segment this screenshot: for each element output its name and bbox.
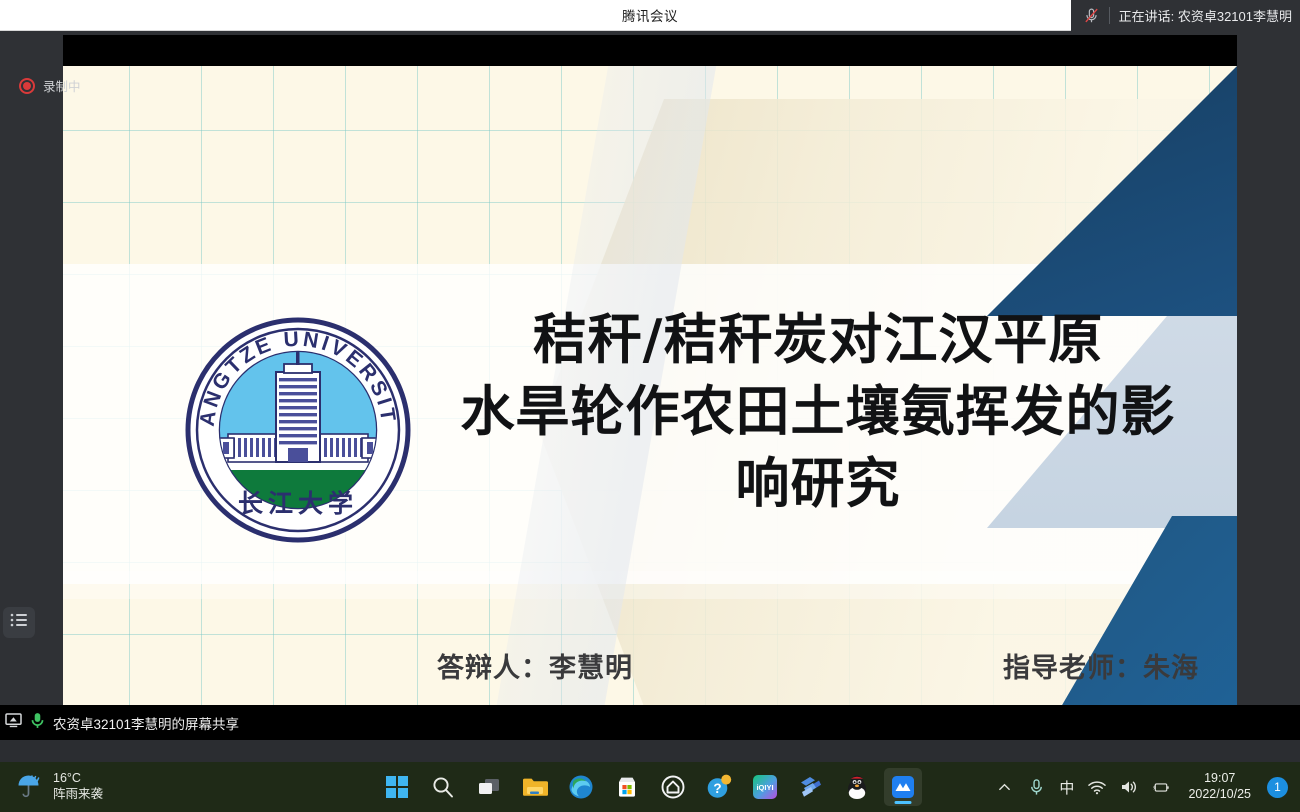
wifi-icon[interactable]	[1088, 778, 1106, 796]
slide-title-line: 秸秆/秸秆炭对江汉平原	[423, 304, 1213, 376]
help-button[interactable]: ?	[700, 768, 738, 806]
clock[interactable]: 19:07 2022/10/25	[1188, 771, 1251, 802]
presentation-slide: YANGTZE UNIVERSITY 长江大学 秸秆/秸秆炭对江汉平原 水旱轮作…	[63, 66, 1237, 726]
recording-label: 录制中	[43, 76, 81, 95]
shared-screen-stage[interactable]: YANGTZE UNIVERSITY 长江大学 秸秆/秸秆炭对江汉平原 水旱轮作…	[63, 35, 1237, 740]
weather-widget[interactable]: 16°C 阵雨来袭	[0, 770, 215, 805]
svg-text:iQIYI: iQIYI	[756, 783, 773, 792]
ime-indicator[interactable]: 中	[1059, 777, 1074, 798]
slide-advisor-name: 指导老师：朱海	[989, 646, 1213, 685]
notification-badge[interactable]: 1	[1267, 777, 1288, 798]
start-button[interactable]	[378, 768, 416, 806]
screen-share-icon	[5, 713, 22, 733]
panel-toggle-button[interactable]	[3, 607, 35, 638]
slide-title-line: 水旱轮作农田土壤氨挥发的影	[423, 376, 1213, 448]
search-button[interactable]	[424, 768, 462, 806]
slide-title: 秸秆/秸秆炭对江汉平原 水旱轮作农田土壤氨挥发的影 响研究	[423, 304, 1213, 519]
slide-presenters: 答辩人：李慧明 指导老师：朱海	[423, 646, 1213, 685]
file-explorer-button[interactable]	[516, 768, 554, 806]
clock-time: 19:07	[1188, 771, 1251, 787]
yangtze-university-logo: YANGTZE UNIVERSITY 长江大学	[184, 316, 412, 544]
screen-share-status-bar: 农资卓32101李慧明的屏幕共享	[0, 705, 1300, 740]
qq-button[interactable]	[838, 768, 876, 806]
meeting-body: 录制中	[0, 31, 1300, 740]
active-speaker-indicator: 正在讲话: 农资卓32101李慧明	[1071, 0, 1300, 31]
tencent-meeting-window: 腾讯会议 正在讲话: 农资卓32101李慧明 录制中	[0, 0, 1300, 812]
battery-charging-icon[interactable]	[1152, 778, 1170, 796]
record-dot-icon	[19, 78, 35, 94]
svg-text:?: ?	[713, 781, 721, 796]
weather-condition: 阵雨来袭	[53, 787, 103, 803]
tencent-meeting-button[interactable]	[884, 768, 922, 806]
microphone-active-icon	[31, 712, 44, 734]
speaker-divider	[1109, 7, 1110, 24]
rain-umbrella-icon	[14, 770, 44, 805]
list-menu-icon	[10, 613, 28, 632]
window-title-bar: 腾讯会议 正在讲话: 农资卓32101李慧明	[0, 0, 1300, 31]
speaker-label: 正在讲话: 农资卓32101李慧明	[1119, 6, 1292, 25]
chevron-up-icon[interactable]	[995, 778, 1013, 796]
windows-taskbar: 16°C 阵雨来袭	[0, 762, 1300, 812]
weather-text: 16°C 阵雨来袭	[53, 771, 103, 802]
microphone-muted-icon	[1083, 7, 1100, 24]
edge-browser-button[interactable]	[562, 768, 600, 806]
system-tray: 中	[995, 762, 1300, 812]
window-title: 腾讯会议	[622, 5, 678, 25]
taskbar-app-list: ? iQIYI	[378, 762, 922, 812]
volume-icon[interactable]	[1120, 778, 1138, 796]
office-app-button[interactable]	[792, 768, 830, 806]
slide-title-line: 响研究	[423, 448, 1213, 520]
slide-presenter-name: 答辩人：李慧明	[423, 646, 647, 685]
recording-indicator: 录制中	[19, 76, 81, 95]
screen-share-status-text: 农资卓32101李慧明的屏幕共享	[53, 713, 239, 733]
clock-date: 2022/10/25	[1188, 787, 1251, 803]
microphone-icon[interactable]	[1027, 778, 1045, 796]
white-app-button[interactable]	[654, 768, 692, 806]
microsoft-store-button[interactable]	[608, 768, 646, 806]
iqiyi-button[interactable]: iQIYI	[746, 768, 784, 806]
slide-white-band-lower	[63, 571, 1237, 599]
logo-chinese-name: 长江大学	[238, 489, 358, 518]
task-view-button[interactable]	[470, 768, 508, 806]
weather-temperature: 16°C	[53, 771, 103, 787]
